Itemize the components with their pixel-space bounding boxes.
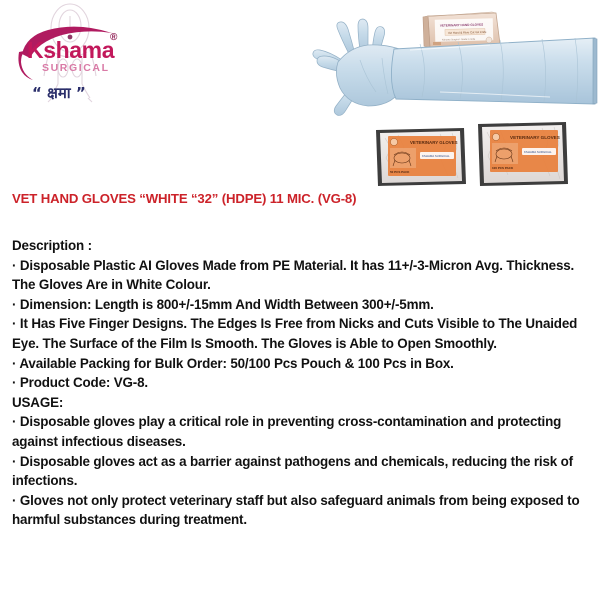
description-item: · Available Packing for Bulk Order: 50/1… (12, 354, 590, 374)
product-page: ® Kshama SURGICAL “ क्षमा ” (0, 0, 600, 600)
svg-text:100 PCS PACK: 100 PCS PACK (492, 166, 514, 170)
description-item: · Dimension: Length is 800+/-15mm And Wi… (12, 295, 590, 315)
description-heading: Description : (12, 236, 590, 256)
description-block: Description : · Disposable Plastic AI Gl… (12, 236, 590, 530)
pouch-left: VETERINARY GLOVES KSHAMA SURGICAL 50 PCS… (376, 128, 466, 186)
brand-devanagari: “ क्षमा ” (32, 84, 86, 102)
pouch-right-label: VETERINARY GLOVES (510, 135, 560, 140)
pouch-right: VETERINARY GLOVES KSHAMA SURGICAL 100 PC… (478, 122, 568, 186)
description-item: · Product Code: VG-8. (12, 373, 590, 393)
description-item: · It Has Five Finger Designs. The Edges … (12, 314, 590, 353)
usage-item: · Disposable gloves play a critical role… (12, 412, 590, 451)
brand-subtitle: SURGICAL (42, 62, 110, 74)
product-box: VETERINARY HAND GLOVES Vet Hand & Fibre … (423, 12, 500, 48)
usage-item: · Gloves not only protect veterinary sta… (12, 491, 590, 530)
pouch-left-label: VETERINARY GLOVES (410, 140, 458, 145)
svg-text:KSHAMA SURGICAL: KSHAMA SURGICAL (524, 150, 552, 154)
usage-heading: USAGE: (12, 393, 590, 413)
usage-item: · Disposable gloves act as a barrier aga… (12, 452, 590, 491)
description-item: · Disposable Plastic AI Gloves Made from… (12, 256, 590, 295)
svg-text:50 PCS PACK: 50 PCS PACK (390, 170, 410, 174)
brand-logo: ® Kshama SURGICAL “ क्षमा ” (8, 2, 138, 110)
page-title: VET HAND GLOVES “WHITE “32” (HDPE) 11 MI… (12, 191, 592, 208)
svg-text:KSHAMA SURGICAL: KSHAMA SURGICAL (422, 154, 450, 158)
brand-name: Kshama (27, 37, 115, 63)
product-photo: VETERINARY HAND GLOVES Vet Hand & Fibre … (290, 2, 598, 188)
